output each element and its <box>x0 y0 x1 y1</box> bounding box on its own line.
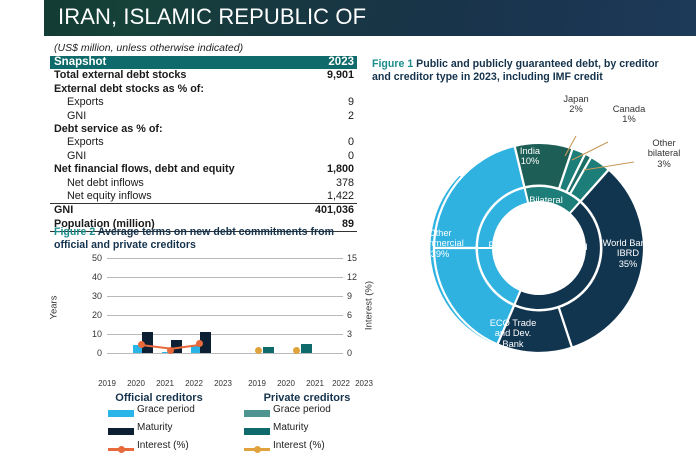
interest-dot-official-2020 <box>138 341 145 348</box>
x-tick-private: 2021 <box>302 379 328 388</box>
row-label: GNI <box>50 110 300 123</box>
interest-dot-private-2019 <box>255 347 262 354</box>
bar-maturity-private-2021 <box>301 344 312 353</box>
panel-title-official: Official creditors <box>99 392 219 404</box>
x-tick-private: 2020 <box>273 379 299 388</box>
gridline <box>107 296 343 297</box>
legend-line-icon <box>244 448 270 451</box>
row-label: Exports <box>50 96 300 109</box>
x-tick-official: 2020 <box>123 379 149 388</box>
x-tick-official: 2023 <box>210 379 236 388</box>
table-row: Total external debt stocks 9,901 <box>50 69 357 82</box>
pie-label-line1: Bilateral <box>512 195 580 205</box>
row-value: 1,800 <box>300 163 357 176</box>
interest-dot-official-2021 <box>167 347 174 354</box>
row-value: 2 <box>300 110 357 123</box>
x-tick-official: 2019 <box>94 379 120 388</box>
pie-label-line1: Japan <box>550 94 602 104</box>
figure1-number: Figure 1 <box>372 58 413 70</box>
axis-baseline <box>107 353 343 354</box>
y-tick-left: 0 <box>80 348 102 358</box>
row-value: 378 <box>300 177 357 190</box>
row-value: 401,036 <box>300 204 357 218</box>
pie-label-pct: 10% <box>480 349 546 359</box>
pie-label-line1: Canada <box>602 104 656 114</box>
gridline <box>107 258 343 259</box>
row-value: 0 <box>300 136 357 149</box>
figure2-caption: Figure 2 Average terms on new debt commi… <box>54 226 366 251</box>
legend-label: Interest (%) <box>137 440 189 451</box>
legend-swatch-icon <box>244 428 270 435</box>
table-row: GNI 0 <box>50 150 357 163</box>
gridline <box>107 277 343 278</box>
row-value <box>300 123 357 136</box>
row-value: 9 <box>300 96 357 109</box>
pie-label-eco-trade-dev-bank: ECO Trade and Dev. Bank 10% <box>480 318 546 360</box>
gridline <box>107 315 343 316</box>
pie-label-private: Private 39% <box>472 240 534 261</box>
figure2-block: Figure 2 Average terms on new debt commi… <box>44 226 374 460</box>
pie-label-multilateral: Multilateral 45% <box>527 242 603 263</box>
bar-maturity-private-2019 <box>263 347 274 353</box>
x-tick-private: 2019 <box>244 379 270 388</box>
interest-dot-private-2021 <box>293 347 300 354</box>
y-tick-left: 40 <box>80 272 102 282</box>
legend-swatch-icon <box>108 428 134 435</box>
legend-swatch-icon <box>108 410 134 417</box>
y-tick-right: 0 <box>347 348 369 358</box>
legend-label: Interest (%) <box>273 440 325 451</box>
interest-dot-official-2022 <box>196 340 203 347</box>
y-tick-left: 50 <box>80 253 102 263</box>
pie-label-line2: bilateral <box>636 148 692 158</box>
pie-label-line1: Other <box>392 228 488 238</box>
figure2-chart: 50 40 30 20 10 0 15 12 9 6 3 0 Years Int… <box>44 254 374 376</box>
table-row: External debt stocks as % of: <box>50 83 357 96</box>
pie-label-pct: 2% <box>550 104 602 114</box>
pie-label-line3: Bank <box>480 339 546 349</box>
y-axis-title-left: Years <box>49 278 60 338</box>
row-label: GNI <box>50 204 300 218</box>
row-label: Net debt inflows <box>50 177 300 190</box>
legend-label: Maturity <box>137 422 173 433</box>
row-value <box>300 83 357 96</box>
figure2-legend: Grace period Maturity Interest (%) Grace… <box>44 404 374 460</box>
y-tick-right: 15 <box>347 253 369 263</box>
snapshot-table: Snapshot 2023 Total external debt stocks… <box>50 56 357 232</box>
pie-label-bilateral: Bilateral 16% <box>512 195 580 216</box>
table-row: Net financial flows, debt and equity 1,8… <box>50 163 357 176</box>
row-label: Net equity inflows <box>50 190 300 204</box>
y-tick-left: 20 <box>80 310 102 320</box>
legend-dot-icon <box>118 446 125 453</box>
pie-label-line1: ECO Trade <box>480 318 546 328</box>
pie-label-line2: and Dev. <box>480 328 546 338</box>
pie-label-line1: Other <box>636 138 692 148</box>
pie-label-pct: 10% <box>500 156 560 166</box>
legend-label: Maturity <box>273 422 309 433</box>
units-note: (US$ million, unless otherwise indicated… <box>54 42 243 54</box>
figure2-caption-text: Average terms on new debt commitments fr… <box>54 226 334 251</box>
pie-label-india: India 10% <box>500 146 560 167</box>
row-value: 9,901 <box>300 69 357 82</box>
pie-label-pct: 45% <box>527 252 603 262</box>
table-row: Net debt inflows 378 <box>50 177 357 190</box>
row-value: 0 <box>300 150 357 163</box>
table-row: Exports 0 <box>50 136 357 149</box>
legend-swatch-icon <box>244 410 270 417</box>
table-row: Net equity inflows 1,422 <box>50 190 357 204</box>
pie-label-line1: Multilateral <box>527 242 603 252</box>
x-tick-official: 2022 <box>181 379 207 388</box>
y-tick-left: 30 <box>80 291 102 301</box>
pie-label-canada: Canada 1% <box>602 104 656 125</box>
legend-label: Grace period <box>273 404 331 415</box>
table-row: Exports 9 <box>50 96 357 109</box>
legend-dot-icon <box>254 446 261 453</box>
figure1-caption-text: Public and publicly guaranteed debt, by … <box>372 58 659 83</box>
figure1-block: Figure 1 Public and publicly guaranteed … <box>372 58 696 458</box>
country-title: IRAN, ISLAMIC REPUBLIC OF <box>58 4 366 30</box>
pie-label-pct: 39% <box>472 250 534 260</box>
legend-label: Grace period <box>137 404 195 415</box>
pie-label-pct: 1% <box>602 114 656 124</box>
row-label: Exports <box>50 136 300 149</box>
pie-label-japan: Japan 2% <box>550 94 602 115</box>
row-label: Debt service as % of: <box>50 123 300 136</box>
row-label: Net financial flows, debt and equity <box>50 163 300 176</box>
table-row: GNI 2 <box>50 110 357 123</box>
page-title-banner: IRAN, ISLAMIC REPUBLIC OF <box>44 0 696 36</box>
y-tick-left: 10 <box>80 329 102 339</box>
legend-line-icon <box>108 448 134 451</box>
pie-label-line1: India <box>500 146 560 156</box>
row-value: 1,422 <box>300 190 357 204</box>
panel-title-private: Private creditors <box>247 392 367 404</box>
figure2-number: Figure 2 <box>54 226 95 238</box>
row-label: External debt stocks as % of: <box>50 83 300 96</box>
pie-label-line1: Private <box>472 240 534 250</box>
snapshot-year: 2023 <box>300 56 357 69</box>
figure1-pie-chart: Other commercial 39% India 10% Japan 2% … <box>372 90 696 430</box>
row-label: GNI <box>50 150 300 163</box>
pie-label-pct: 16% <box>512 205 580 215</box>
figure1-caption: Figure 1 Public and publicly guaranteed … <box>372 58 672 83</box>
row-label: Total external debt stocks <box>50 69 300 82</box>
x-tick-official: 2021 <box>152 379 178 388</box>
snapshot-header-row: Snapshot 2023 <box>50 56 357 69</box>
table-row: GNI 401,036 <box>50 204 357 218</box>
pie-label-other-bilateral: Other bilateral 3% <box>636 138 692 169</box>
table-row: Debt service as % of: <box>50 123 357 136</box>
pie-label-pct: 3% <box>636 159 692 169</box>
snapshot-title: Snapshot <box>50 56 300 69</box>
